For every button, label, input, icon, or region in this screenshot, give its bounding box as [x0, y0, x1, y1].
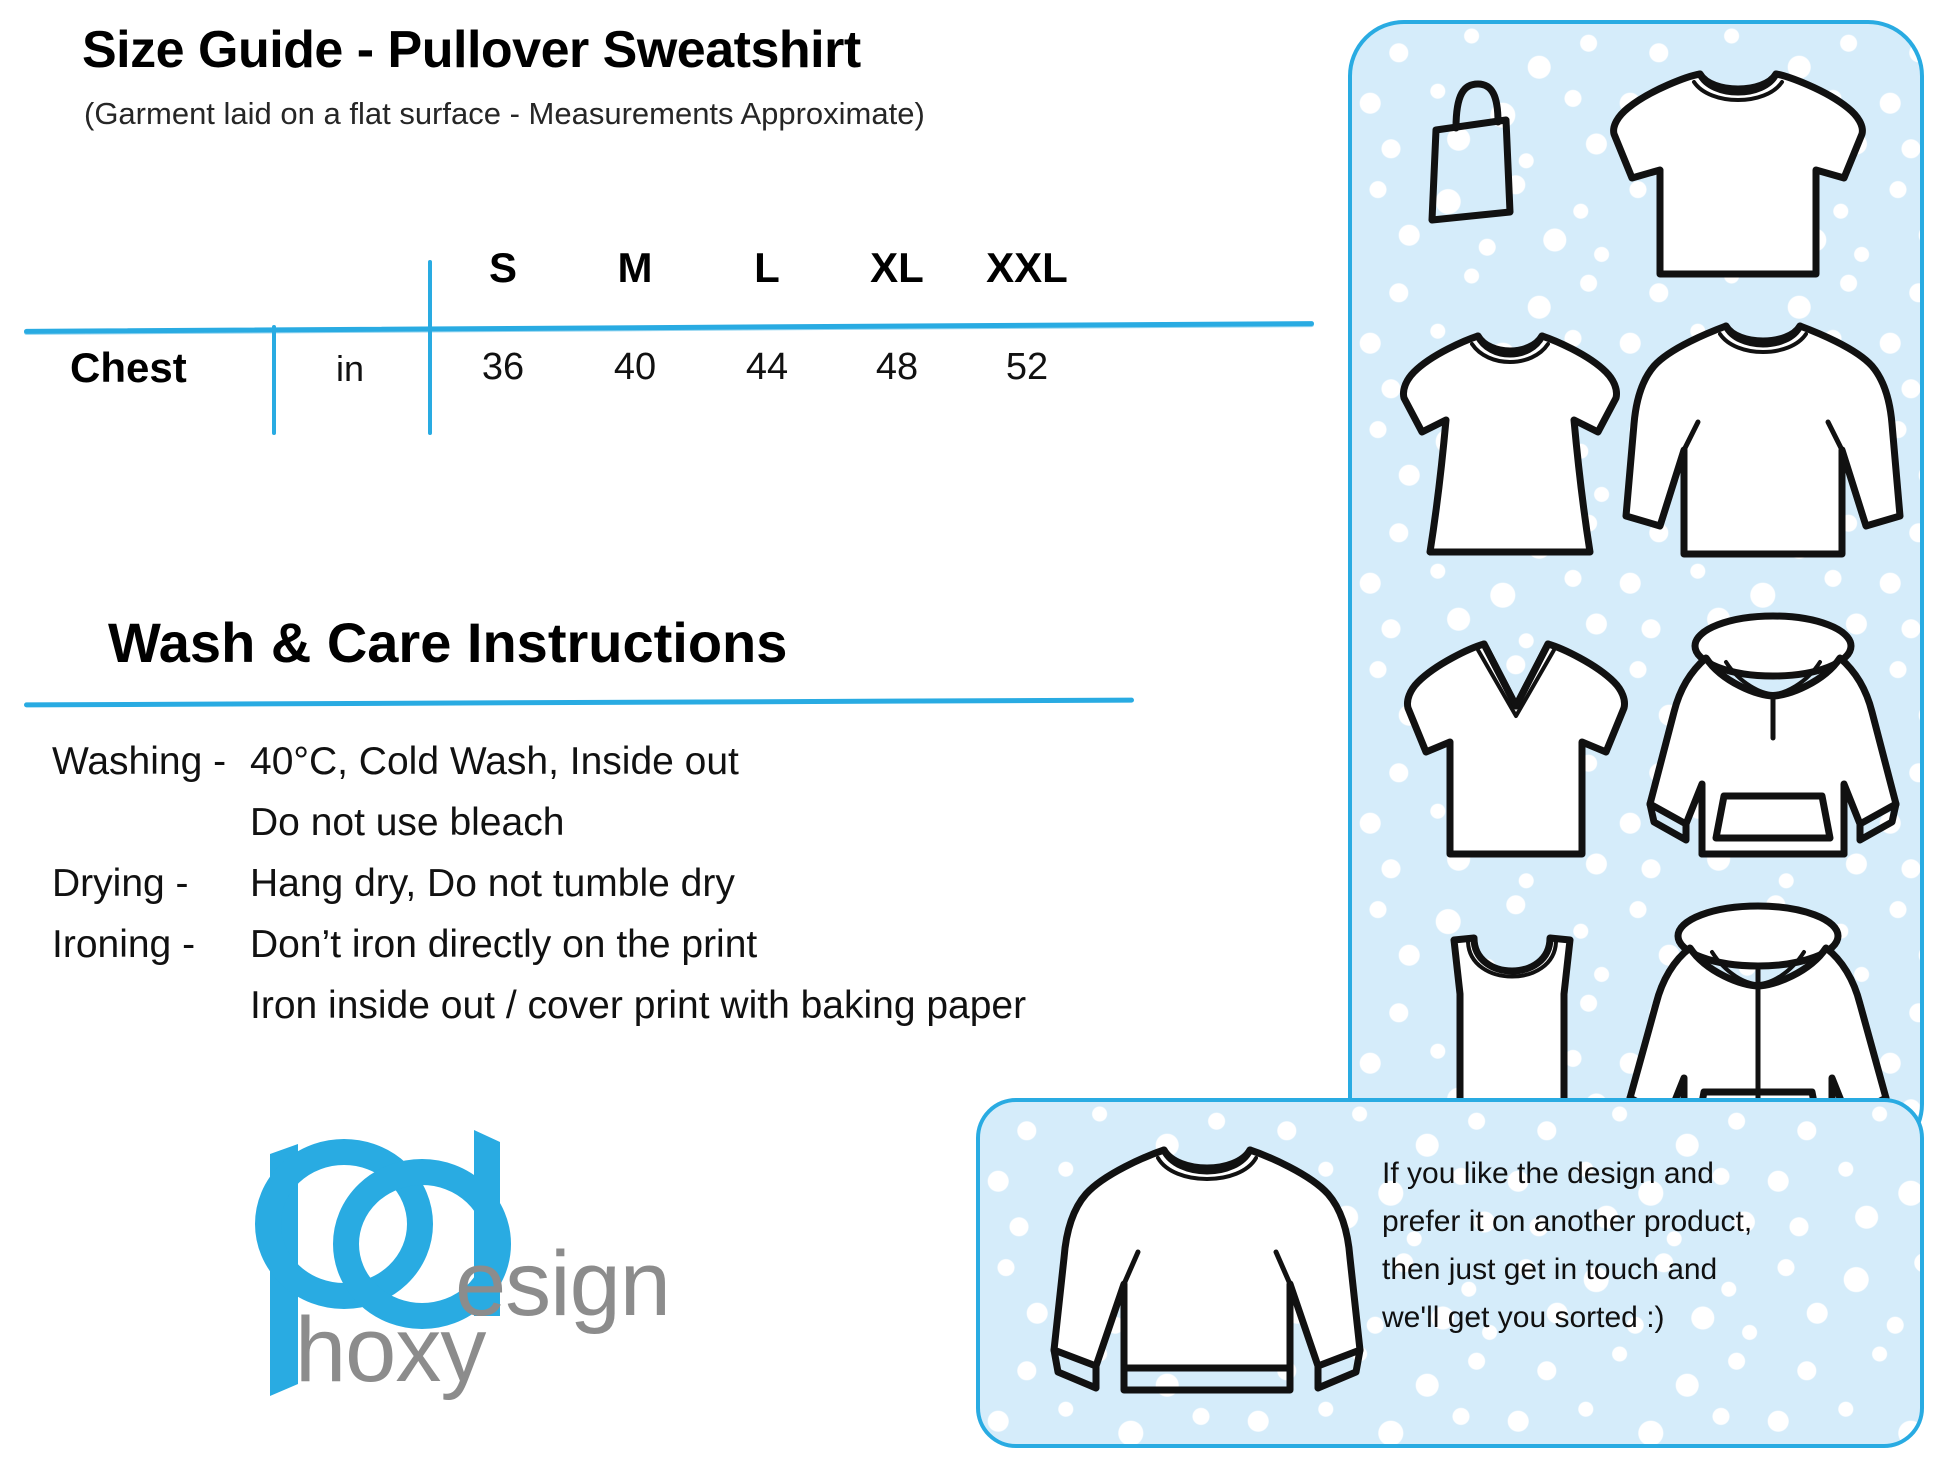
- brand-logo: esign hoxy: [240, 1120, 720, 1420]
- cell-chest-xl: 48: [832, 346, 962, 389]
- logo-word-design: esign: [455, 1232, 670, 1337]
- care-value: Do not use bleach: [250, 801, 564, 845]
- size-header-l: L: [702, 244, 832, 292]
- cell-chest-m: 40: [570, 346, 700, 389]
- care-title-rule: [24, 698, 1134, 708]
- cell-chest-l: 44: [702, 346, 832, 389]
- promo-line: If you like the design and: [1382, 1150, 1892, 1198]
- page-subtitle: (Garment laid on a flat surface - Measur…: [84, 96, 925, 132]
- promo-line: prefer it on another product,: [1382, 1198, 1892, 1246]
- size-header-m: M: [570, 244, 700, 292]
- care-key: Drying -: [52, 862, 189, 906]
- garment-ladies-tshirt: [1380, 314, 1640, 574]
- table-header-rule: [24, 321, 1314, 334]
- table-divider-right: [428, 260, 432, 435]
- care-row: Drying - Hang dry, Do not tumble dry: [0, 862, 1330, 923]
- size-header-xxl: XXL: [962, 244, 1092, 292]
- page-title: Size Guide - Pullover Sweatshirt: [82, 20, 861, 80]
- row-unit-chest: in: [272, 348, 428, 390]
- care-key: Washing -: [52, 740, 226, 784]
- size-table: S M L XL XXL Chest in 36 40 44 48 52: [0, 240, 1320, 460]
- garment-long-sleeve-tshirt: [1618, 304, 1908, 584]
- garment-mens-tshirt: [1588, 50, 1888, 290]
- care-value: Hang dry, Do not tumble dry: [250, 862, 735, 906]
- care-row: Do not use bleach: [0, 801, 1330, 862]
- garment-pullover-hoodie: [1628, 608, 1918, 898]
- care-row: Iron inside out / cover print with bakin…: [0, 984, 1330, 1045]
- garment-gallery-panel: [1348, 20, 1924, 1160]
- garment-tote-bag: [1398, 62, 1548, 242]
- care-section-title: Wash & Care Instructions: [108, 610, 787, 675]
- care-row: Washing - 40°C, Cold Wash, Inside out: [0, 740, 1330, 801]
- logo-word-phoxy: hoxy: [295, 1298, 485, 1403]
- cell-chest-xxl: 52: [962, 346, 1092, 389]
- care-key: Ironing -: [52, 923, 195, 967]
- care-row: Ironing - Don’t iron directly on the pri…: [0, 923, 1330, 984]
- row-label-chest: Chest: [70, 344, 187, 392]
- promo-line: we'll get you sorted :): [1382, 1294, 1892, 1342]
- promo-text: If you like the design and prefer it on …: [1382, 1150, 1892, 1342]
- size-header-s: S: [438, 244, 568, 292]
- garment-v-neck-tshirt: [1386, 624, 1646, 874]
- garment-pullover-sweatshirt: [1042, 1124, 1372, 1414]
- care-value: Iron inside out / cover print with bakin…: [250, 984, 1026, 1028]
- care-value: Don’t iron directly on the print: [250, 923, 757, 967]
- size-guide-page: Size Guide - Pullover Sweatshirt (Garmen…: [0, 0, 1946, 1460]
- care-value: 40°C, Cold Wash, Inside out: [250, 740, 739, 784]
- size-header-xl: XL: [832, 244, 962, 292]
- promo-line: then just get in touch and: [1382, 1246, 1892, 1294]
- care-instructions-list: Washing - 40°C, Cold Wash, Inside out Do…: [0, 740, 1330, 1045]
- cell-chest-s: 36: [438, 346, 568, 389]
